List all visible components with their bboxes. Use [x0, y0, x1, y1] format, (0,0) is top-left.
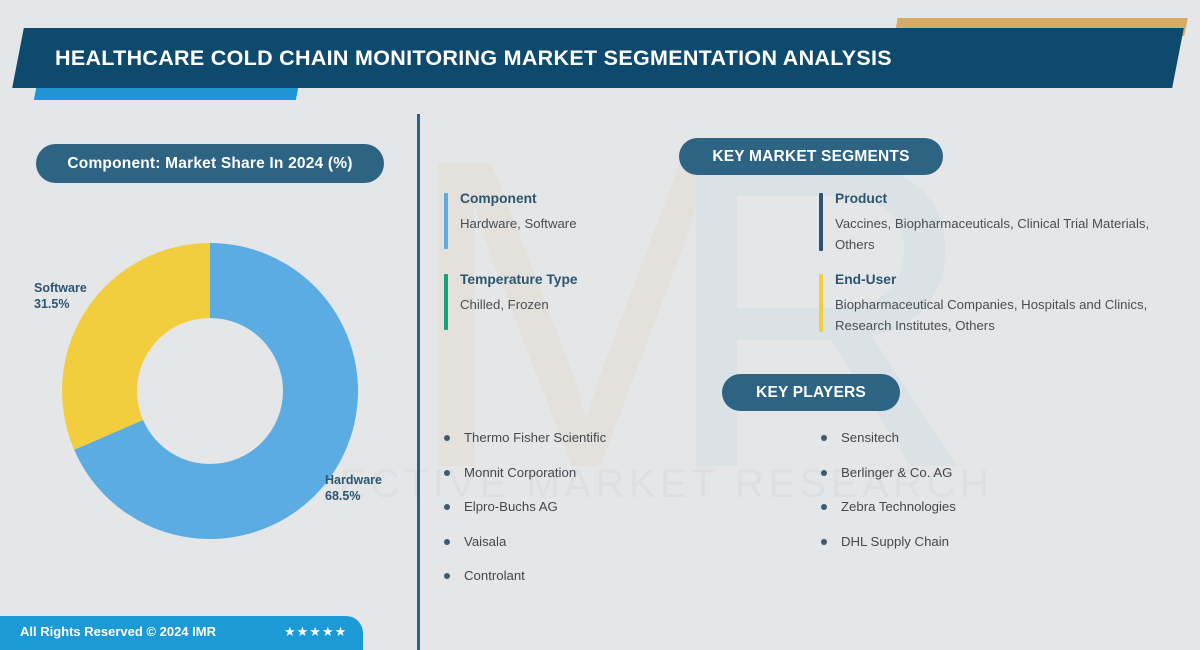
footer-copyright: All Rights Reserved © 2024 IMR: [20, 624, 216, 639]
list-item-label: Controlant: [464, 568, 525, 583]
donut-label-hardware-name: Hardware: [325, 472, 445, 488]
vertical-divider: [417, 114, 420, 650]
donut-label-software: Software 31.5%: [34, 280, 144, 312]
segment-body-temperature-type: Chilled, Frozen: [460, 294, 690, 315]
list-item-label: Monnit Corporation: [464, 465, 576, 480]
bullet-icon: [821, 539, 827, 545]
list-item-label: DHL Supply Chain: [841, 534, 949, 549]
list-item: Elpro-Buchs AG: [444, 499, 694, 534]
segment-block-temperature-type: Temperature Type Chilled, Frozen: [444, 272, 690, 315]
segment-body-component: Hardware, Software: [460, 213, 690, 234]
list-item: Berlinger & Co. AG: [821, 465, 1081, 500]
chart-title-pill: Component: Market Share In 2024 (%): [36, 144, 384, 183]
segment-accent-bar-product: [819, 193, 823, 251]
bullet-icon: [444, 435, 450, 441]
donut-label-software-value: 31.5%: [34, 296, 144, 312]
bullet-icon: [821, 504, 827, 510]
donut-label-hardware: Hardware 68.5%: [325, 472, 445, 504]
bullet-icon: [821, 470, 827, 476]
segment-block-component: Component Hardware, Software: [444, 191, 690, 234]
list-item: Sensitech: [821, 430, 1081, 465]
bullet-icon: [444, 504, 450, 510]
segment-title-component: Component: [460, 191, 690, 206]
header-underline-accent: [34, 88, 298, 100]
list-item: Thermo Fisher Scientific: [444, 430, 694, 465]
segment-accent-bar-end-user: [819, 274, 823, 332]
key-players-list-right: SensitechBerlinger & Co. AGZebra Technol…: [821, 430, 1081, 568]
list-item-label: Zebra Technologies: [841, 499, 956, 514]
list-item-label: Berlinger & Co. AG: [841, 465, 952, 480]
donut-hole: [137, 318, 283, 464]
list-item: Vaisala: [444, 534, 694, 569]
list-item-label: Sensitech: [841, 430, 899, 445]
segment-block-end-user: End-User Biopharmaceutical Companies, Ho…: [819, 272, 1170, 336]
list-item-label: Elpro-Buchs AG: [464, 499, 558, 514]
page-title: Healthcare Cold Chain Monitoring Market …: [55, 28, 1105, 88]
list-item-label: Vaisala: [464, 534, 506, 549]
bullet-icon: [821, 435, 827, 441]
donut-label-software-name: Software: [34, 280, 144, 296]
segment-title-product: Product: [835, 191, 1175, 206]
segment-title-end-user: End-User: [835, 272, 1170, 287]
segment-block-product: Product Vaccines, Biopharmaceuticals, Cl…: [819, 191, 1175, 255]
key-market-segments-heading: Key Market Segments: [679, 138, 943, 175]
list-item: Controlant: [444, 568, 694, 603]
list-item: Monnit Corporation: [444, 465, 694, 500]
segment-body-product: Vaccines, Biopharmaceuticals, Clinical T…: [835, 213, 1175, 255]
segment-accent-bar-component: [444, 193, 448, 249]
bullet-icon: [444, 573, 450, 579]
bullet-icon: [444, 470, 450, 476]
list-item: DHL Supply Chain: [821, 534, 1081, 569]
donut-label-hardware-value: 68.5%: [325, 488, 445, 504]
segment-title-temperature-type: Temperature Type: [460, 272, 690, 287]
key-players-list-left: Thermo Fisher ScientificMonnit Corporati…: [444, 430, 694, 603]
segment-body-end-user: Biopharmaceutical Companies, Hospitals a…: [835, 294, 1170, 336]
list-item: Zebra Technologies: [821, 499, 1081, 534]
list-item-label: Thermo Fisher Scientific: [464, 430, 606, 445]
segment-accent-bar-temperature-type: [444, 274, 448, 330]
bullet-icon: [444, 539, 450, 545]
key-players-heading: Key Players: [722, 374, 900, 411]
footer-star-rating: ★★★★★: [284, 624, 347, 640]
